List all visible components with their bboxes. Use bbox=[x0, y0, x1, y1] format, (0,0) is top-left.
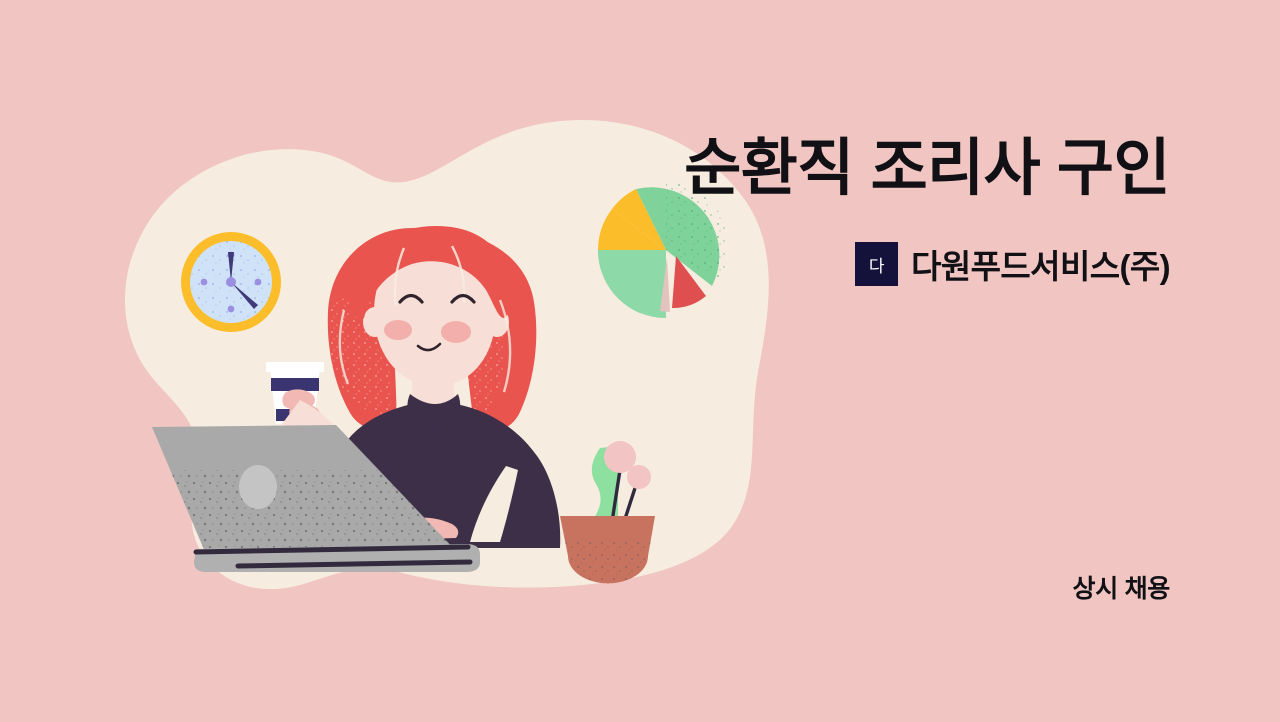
job-posting-poster: 순환직 조리사 구인 다 다원푸드서비스(주) 상시 채용 bbox=[0, 0, 1280, 722]
page-title: 순환직 조리사 구인 bbox=[600, 134, 1170, 203]
wall-clock-icon bbox=[181, 232, 281, 332]
illustration-artwork bbox=[0, 0, 1280, 722]
company-row: 다 다원푸드서비스(주) bbox=[600, 240, 1170, 288]
status-badge: 상시 채용 bbox=[600, 569, 1170, 605]
company-logo-badge: 다 bbox=[855, 242, 898, 286]
company-name: 다원푸드서비스(주) bbox=[911, 240, 1170, 288]
